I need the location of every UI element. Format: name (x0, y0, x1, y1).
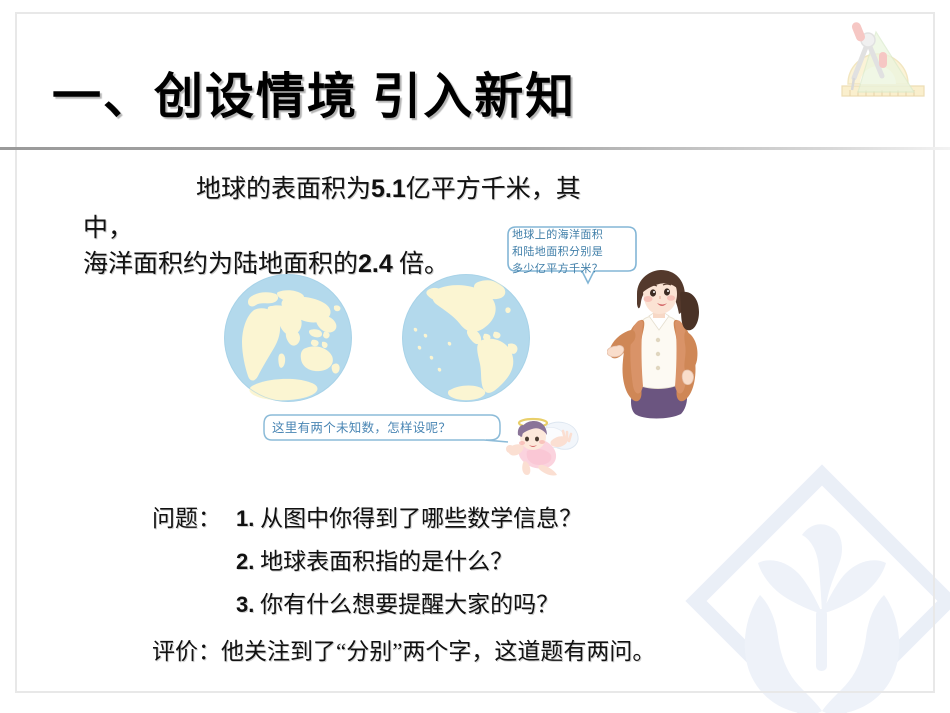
statement-line1-number: 5.1 (371, 175, 406, 203)
title-divider (0, 147, 950, 150)
teacher-character (607, 268, 711, 428)
questions-label: 问题： (152, 499, 221, 533)
question-2-number: 2. (236, 549, 254, 574)
question-3-text: 你有什么想要提醒大家的吗？ (260, 592, 559, 617)
question-1-number: 1. (236, 506, 254, 531)
page-title: 一、创设情境 引入新知 (52, 57, 576, 128)
compass-protractor-ruler-icon (828, 18, 938, 110)
statement-line-2: 中， (83, 208, 133, 244)
statement-line-1: 地球的表面积为5.1亿平方千米，其 (196, 169, 581, 205)
slide-canvas: 一、创设情境 引入新知 地球的表面积为5.1亿平方千米，其 中， 海洋面积约为陆… (0, 0, 950, 713)
statement-line1-prefix: 地球的表面积为 (196, 176, 371, 203)
question-item-2: 2. 地球表面积指的是什么？ (236, 542, 513, 576)
question-item-1: 1. 从图中你得到了哪些数学信息？ (236, 499, 582, 533)
question-item-3: 3. 你有什么想要提醒大家的吗？ (236, 585, 559, 619)
hands-sprout-watermark (682, 461, 950, 713)
bubble1-line-2: 和陆地面积分别是 (512, 244, 636, 261)
bubble1-line-1: 地球上的海洋面积 (512, 227, 636, 244)
statement-line1-suffix: 亿平方千米，其 (406, 176, 581, 203)
question-1-text: 从图中你得到了哪些数学信息？ (260, 506, 582, 531)
question-2-text: 地球表面积指的是什么？ (260, 549, 513, 574)
two-hemispheres-illustration (222, 272, 532, 404)
eastern-hemisphere (224, 274, 352, 402)
western-hemisphere (402, 274, 530, 402)
angel-cherub (503, 415, 581, 477)
question-3-number: 3. (236, 592, 254, 617)
angel-speech-bubble-text: 这里有两个未知数，怎样设呢？ (272, 418, 500, 438)
evaluation-text: 评价：他关注到了“分别”两个字，这道题有两问。 (152, 632, 655, 666)
